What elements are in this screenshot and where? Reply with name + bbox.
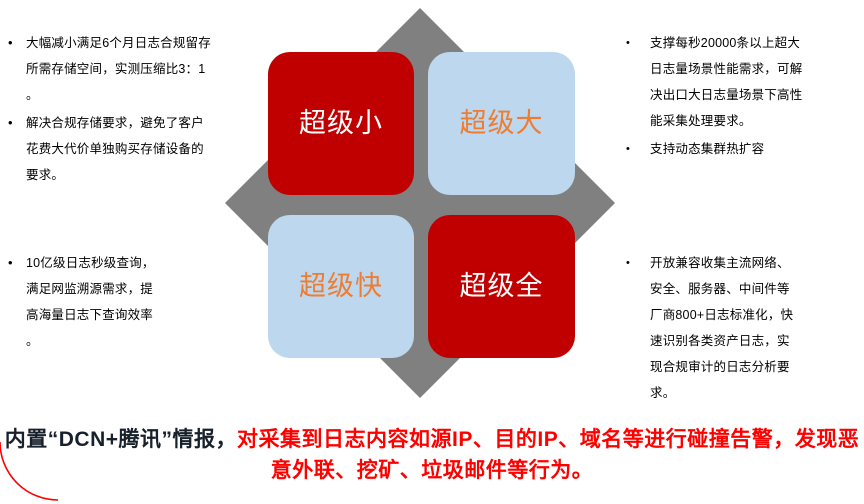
- list-item: • 解决合规存储要求，避免了客户 花费大代价单独购买存储设备的 要求。: [0, 110, 268, 188]
- caption-red-part: 对采集到日志内容如源IP、目的IP、域名等进行碰撞告警，发现恶意外联、挖矿、垃圾…: [237, 428, 859, 482]
- list-item: • 大幅减小满足6个月日志合规留存 所需存储空间，实测压缩比3：1 。: [0, 30, 268, 108]
- bullet-column-top-right: • 支撑每秒20000条以上超大 日志量场景性能需求，可解 决出口大日志量场景下…: [612, 30, 864, 164]
- bullet-dot-icon: •: [0, 30, 26, 56]
- list-item: • 支撑每秒20000条以上超大 日志量场景性能需求，可解 决出口大日志量场景下…: [612, 30, 864, 134]
- quadrant-label-super-full: 超级全: [460, 273, 544, 300]
- quadrant-box-super-small[interactable]: 超级小: [268, 52, 414, 195]
- quadrant-box-super-fast[interactable]: 超级快: [268, 215, 414, 358]
- slide-caption: 内置“DCN+腾讯”情报，对采集到日志内容如源IP、目的IP、域名等进行碰撞告警…: [0, 424, 864, 486]
- bullet-column-bottom-right: • 开放兼容收集主流网络、 安全、服务器、中间件等 厂商800+日志标准化，快 …: [612, 250, 864, 408]
- quadrant-label-super-small: 超级小: [299, 110, 383, 137]
- quadrant-box-super-full[interactable]: 超级全: [428, 215, 575, 358]
- quadrant-box-super-big[interactable]: 超级大: [428, 52, 575, 195]
- bullet-text: 10亿级日志秒级查询， 满足网监溯源需求，提 高海量日志下查询效率 。: [26, 250, 268, 354]
- bullet-column-bottom-left: • 10亿级日志秒级查询， 满足网监溯源需求，提 高海量日志下查询效率 。: [0, 250, 268, 356]
- quadrant-label-super-big: 超级大: [460, 110, 544, 137]
- bullet-text: 开放兼容收集主流网络、 安全、服务器、中间件等 厂商800+日志标准化，快 速识…: [638, 250, 864, 406]
- corner-arc-decoration: [0, 440, 62, 504]
- list-item: • 开放兼容收集主流网络、 安全、服务器、中间件等 厂商800+日志标准化，快 …: [612, 250, 864, 406]
- bullet-text: 解决合规存储要求，避免了客户 花费大代价单独购买存储设备的 要求。: [26, 110, 268, 188]
- bullet-dot-icon: •: [0, 250, 26, 276]
- list-item: • 10亿级日志秒级查询， 满足网监溯源需求，提 高海量日志下查询效率 。: [0, 250, 268, 354]
- bullet-text: 大幅减小满足6个月日志合规留存 所需存储空间，实测压缩比3：1 。: [26, 30, 268, 108]
- quadrant-label-super-fast: 超级快: [299, 273, 383, 300]
- bullet-dot-icon: •: [612, 136, 638, 162]
- bullet-dot-icon: •: [612, 250, 638, 276]
- list-item: • 支持动态集群热扩容: [612, 136, 864, 162]
- bullet-dot-icon: •: [612, 30, 638, 56]
- bullet-column-top-left: • 大幅减小满足6个月日志合规留存 所需存储空间，实测压缩比3：1 。 • 解决…: [0, 30, 268, 190]
- slide-canvas: 超级小 超级大 超级快 超级全 • 大幅减小满足6个月日志合规留存 所需存储空间…: [0, 0, 864, 491]
- bullet-text: 支持动态集群热扩容: [638, 136, 864, 162]
- bullet-dot-icon: •: [0, 110, 26, 136]
- bullet-text: 支撑每秒20000条以上超大 日志量场景性能需求，可解 决出口大日志量场景下高性…: [638, 30, 864, 134]
